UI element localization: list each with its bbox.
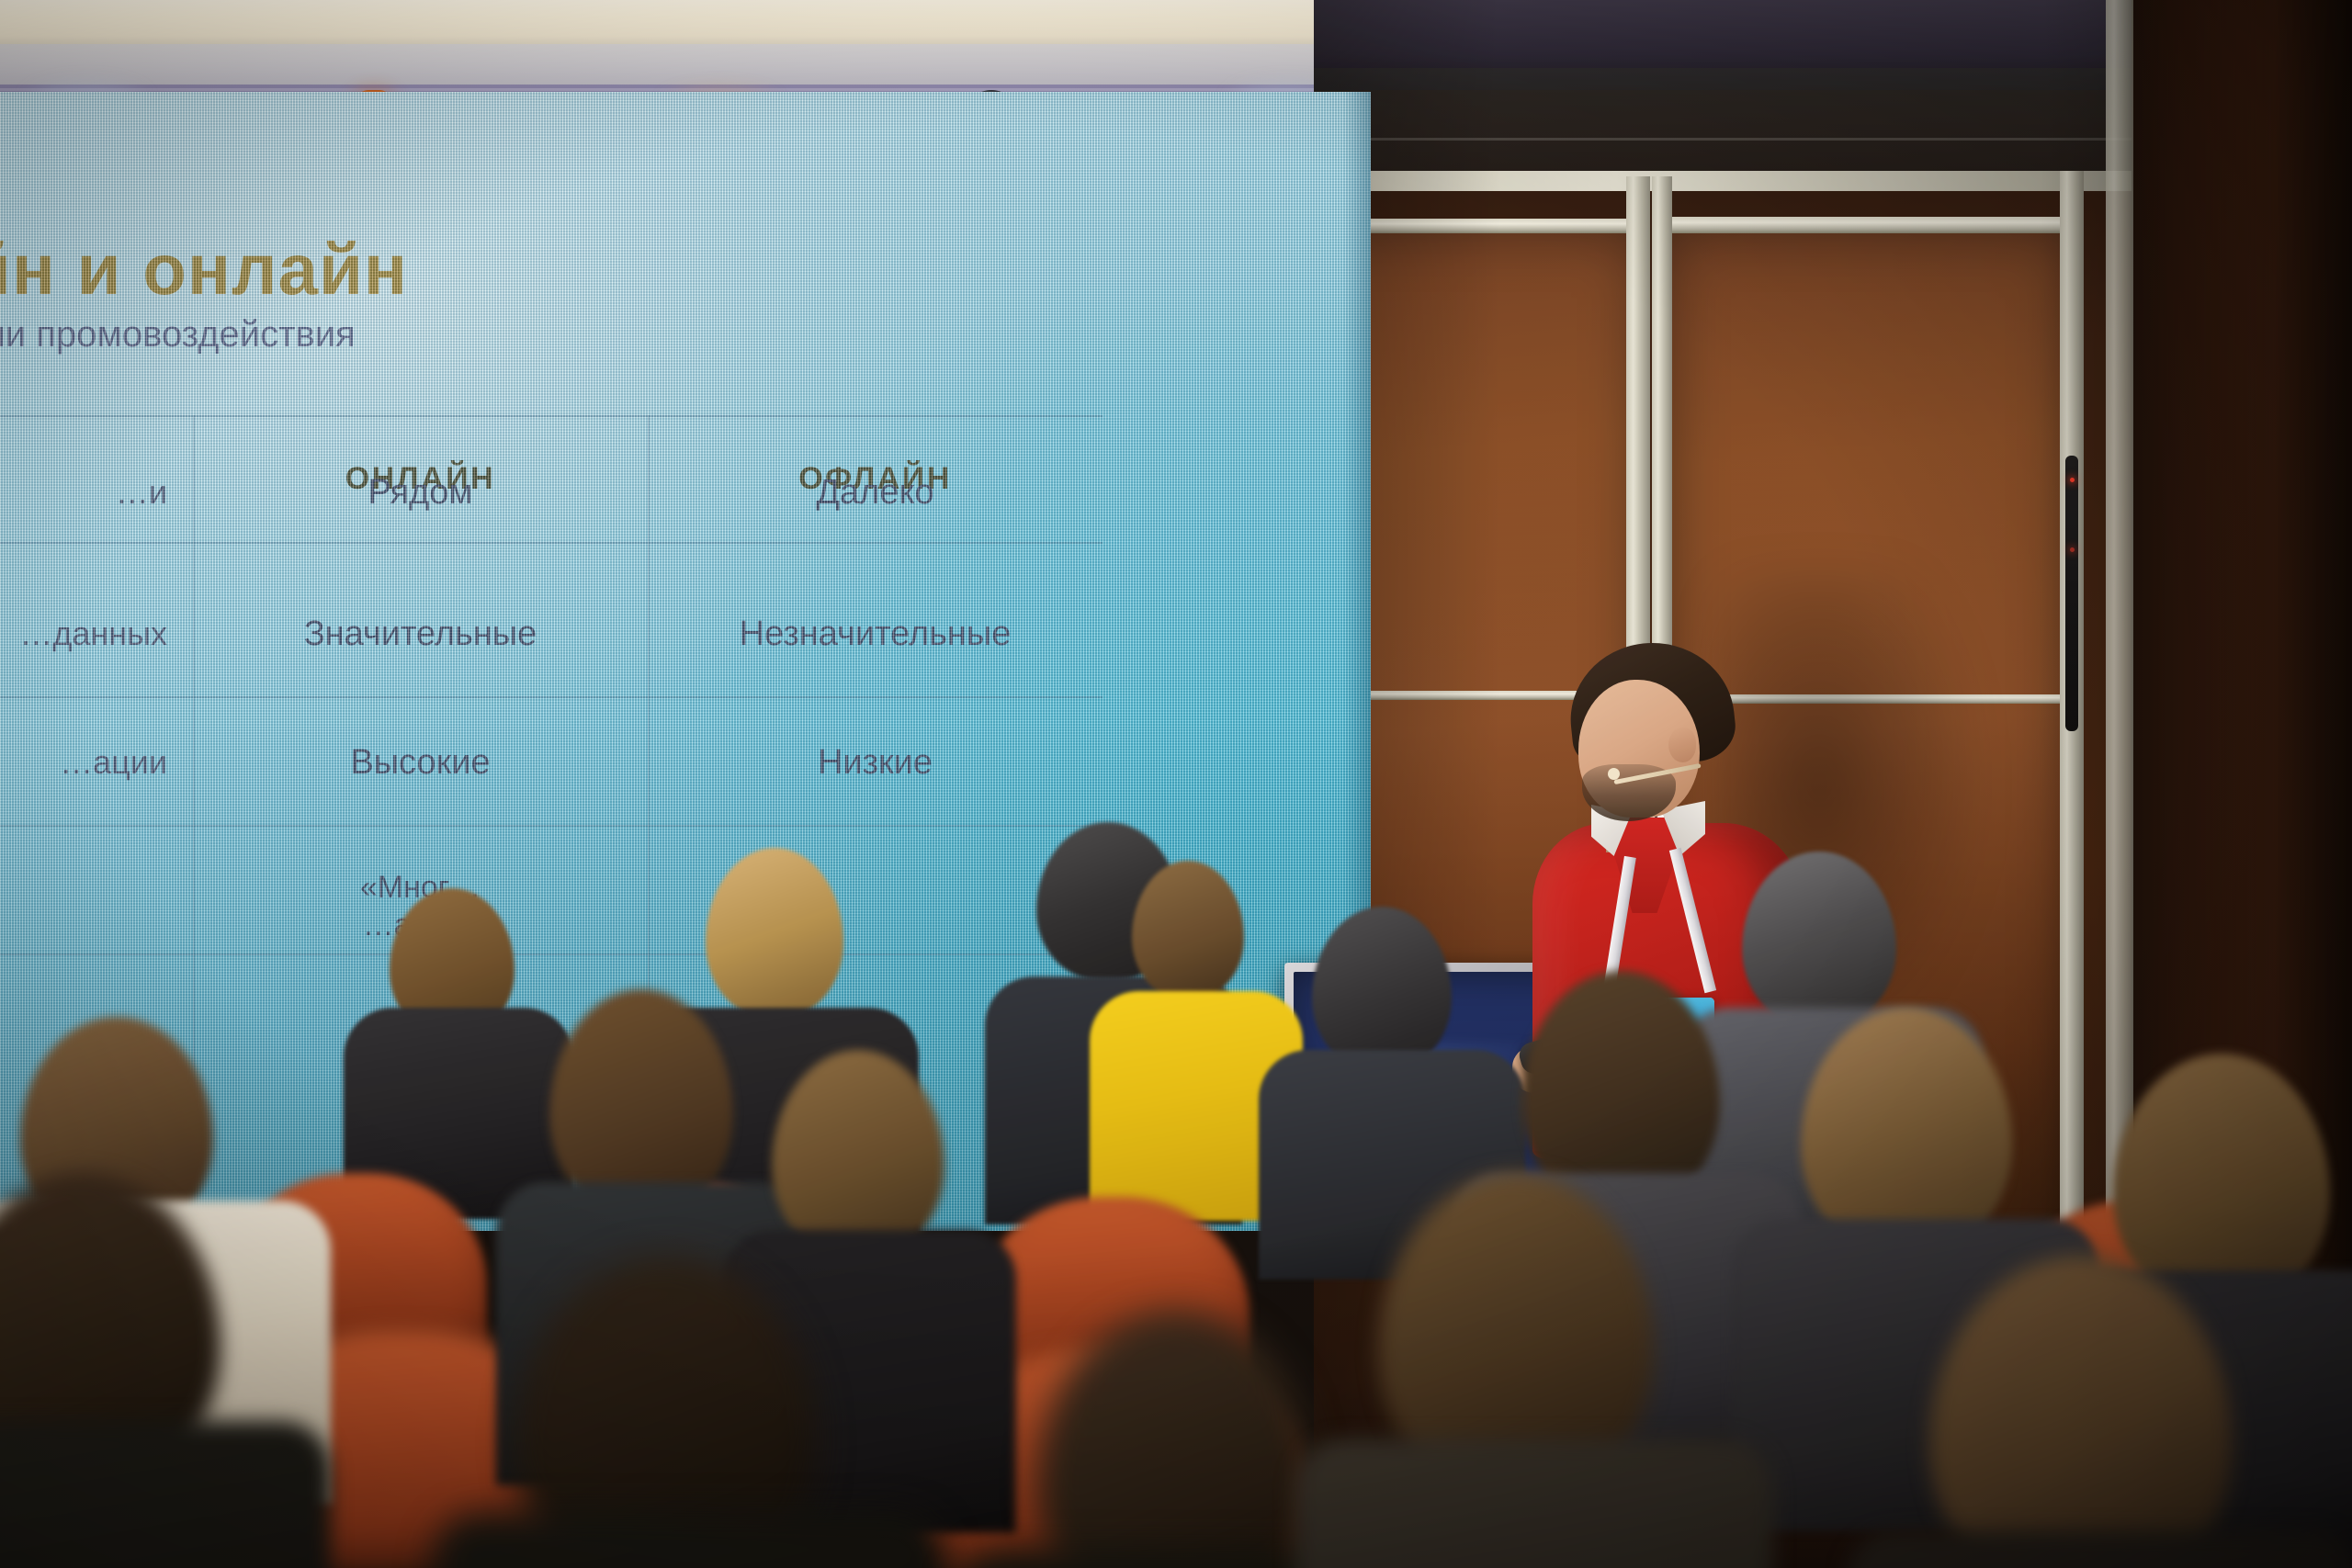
audience-head (2113, 1054, 2330, 1305)
audience-head (1742, 852, 1896, 1026)
audience-torso (432, 1513, 946, 1568)
audience-torso (0, 1421, 331, 1568)
audience-head (1312, 907, 1452, 1070)
audience-head (706, 848, 843, 1017)
audience-head (1132, 861, 1244, 998)
microphone-capsule-icon (1608, 768, 1620, 780)
conference-photo: …лайн и онлайн …стомизации промовоздейст… (0, 0, 2352, 1568)
audience (0, 870, 2352, 1568)
audience-torso (1295, 1439, 1773, 1568)
speaker-ear (1668, 728, 1696, 762)
audience-torso (1847, 1531, 2352, 1568)
